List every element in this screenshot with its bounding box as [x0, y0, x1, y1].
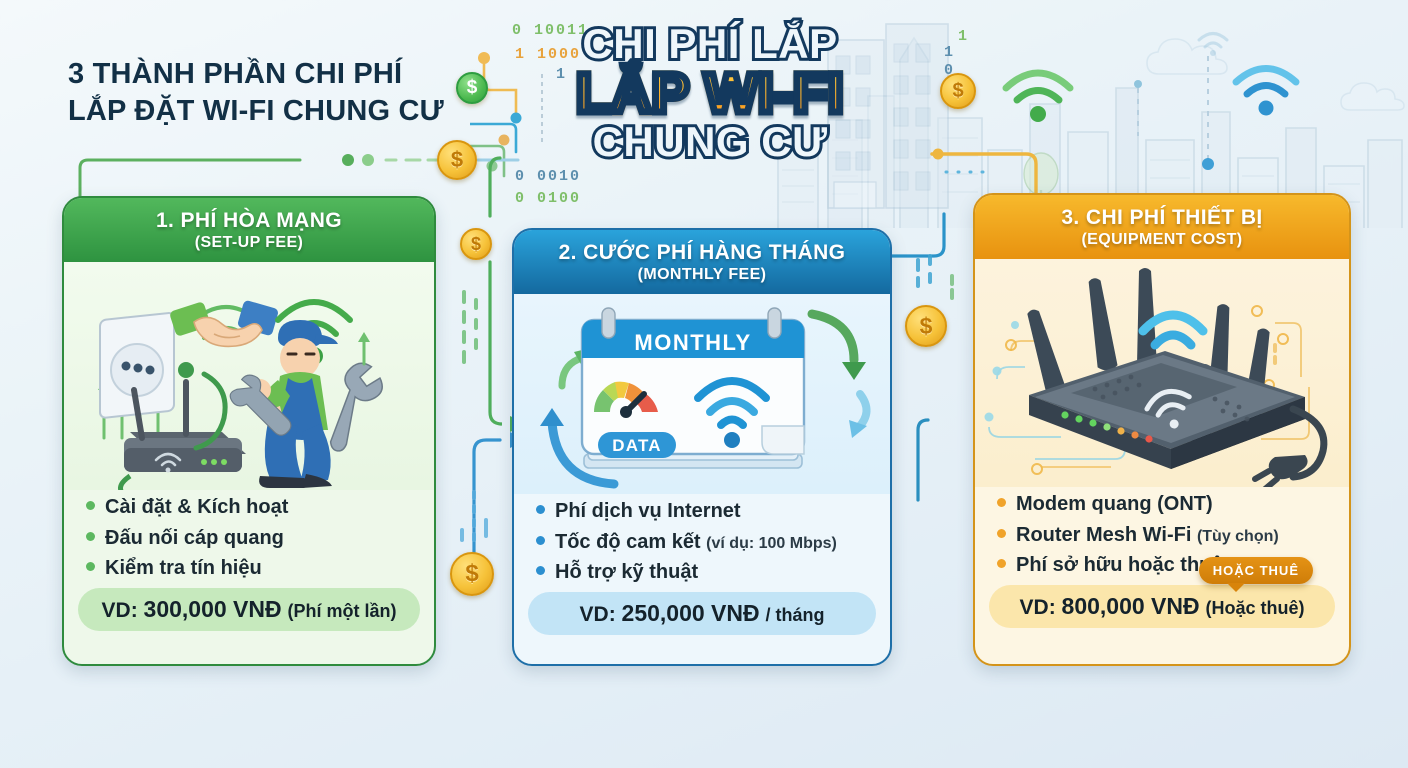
svg-text:DATA: DATA — [612, 436, 662, 455]
monthly-calendar-data-illustration: MONTHLY — [514, 294, 890, 494]
headline-line-2: LẮP ĐẶT WI-FI CHUNG CƯ — [68, 93, 488, 130]
card3-title: 3. CHI PHÍ THIẾT BỊ — [985, 206, 1339, 230]
bullet-dot — [86, 562, 95, 571]
cost-card-equipment-cost[interactable]: 3. CHI PHÍ THIẾT BỊ (EQUIPMENT COST) — [973, 193, 1351, 666]
bullet-dot — [536, 536, 545, 545]
card1-price-pill: VD: 300,000 VNĐ (Phí một lần) — [78, 588, 420, 631]
card1-subtitle: (SET-UP FEE) — [74, 234, 424, 252]
bullet-dot — [86, 501, 95, 510]
handshake-technician-router-illustration — [64, 262, 434, 490]
status-badge: HOẶC THUÊ — [1199, 557, 1313, 584]
card2-price-pill: VD: 250,000 VNĐ / tháng — [528, 592, 876, 635]
bullet-dot — [997, 559, 1006, 568]
cloud-icon — [1145, 38, 1265, 82]
main-title-line-1: CHI PHÍ LẮP — [545, 24, 875, 64]
coin-gold-icon: $ — [905, 305, 947, 347]
binary-text: 0 0010 — [515, 168, 581, 185]
infographic-canvas: 0 10011 .. 1 1000 .. 1 0 0010 0 0100 1 1… — [0, 0, 1408, 768]
bullet-dot — [536, 566, 545, 575]
card1-bullet-list: Cài đặt & Kích hoạt Đấu nối cáp quang Ki… — [64, 490, 434, 581]
cost-card-monthly-fee[interactable]: 2. CƯỚC PHÍ HÀNG THÁNG (MONTHLY FEE) — [512, 228, 892, 666]
bullet-dot — [997, 498, 1006, 507]
card2-subtitle: (MONTHLY FEE) — [524, 266, 880, 284]
list-item: Đấu nối cáp quang — [86, 527, 414, 551]
svg-text:MONTHLY: MONTHLY — [634, 330, 751, 355]
binary-text: 1 — [958, 28, 969, 45]
coin-gold-icon: $ — [450, 552, 494, 596]
list-item: Router Mesh Wi-Fi (Tùy chọn) — [997, 524, 1329, 548]
card2-body: MONTHLY — [514, 294, 890, 635]
list-item: Kiểm tra tín hiệu — [86, 557, 414, 581]
main-title-line-2: LẮP WI-FI — [545, 66, 875, 120]
card1-header: 1. PHÍ HÒA MẠNG (SET-UP FEE) — [64, 198, 434, 262]
coin-gold-icon: $ — [460, 228, 492, 260]
bullet-dot — [536, 505, 545, 514]
card2-header: 2. CƯỚC PHÍ HÀNG THÁNG (MONTHLY FEE) — [514, 230, 890, 294]
coin-gold-icon: $ — [940, 73, 976, 109]
card3-subtitle: (EQUIPMENT COST) — [985, 231, 1339, 249]
list-item: Hỗ trợ kỹ thuật — [536, 561, 870, 585]
binary-text: 0 0100 — [515, 190, 581, 207]
wifi-blue-icon — [1230, 58, 1302, 116]
binary-text: 1 — [944, 44, 955, 61]
coin-gold-icon: $ — [437, 140, 477, 180]
card2-bullet-list: Phí dịch vụ Internet Tốc độ cam kết (ví … — [514, 494, 890, 585]
card3-body: Modem quang (ONT) Router Mesh Wi-Fi (Tùy… — [975, 259, 1349, 628]
card1-body: Cài đặt & Kích hoạt Đấu nối cáp quang Ki… — [64, 262, 434, 631]
card3-header: 3. CHI PHÍ THIẾT BỊ (EQUIPMENT COST) — [975, 195, 1349, 259]
card1-title: 1. PHÍ HÒA MẠNG — [74, 209, 424, 233]
card3-price-pill: HOẶC THUÊ VD: 800,000 VNĐ (Hoặc thuê) — [989, 585, 1335, 628]
cost-card-setup-fee[interactable]: 1. PHÍ HÒA MẠNG (SET-UP FEE) — [62, 196, 436, 666]
bullet-dot — [997, 529, 1006, 538]
bullet-dot — [86, 532, 95, 541]
dashed-link-icon — [1130, 40, 1260, 210]
main-title-line-3: CHUNG CƯ — [545, 122, 875, 162]
wifi-small-icon — [1195, 28, 1231, 56]
cloud-icon — [1340, 82, 1408, 116]
page-title: 3 THÀNH PHẦN CHI PHÍ LẮP ĐẶT WI-FI CHUNG… — [68, 56, 488, 130]
list-item: Phí dịch vụ Internet — [536, 500, 870, 524]
mesh-router-antennas-illustration — [975, 259, 1349, 487]
headline-line-1: 3 THÀNH PHẦN CHI PHÍ — [68, 56, 488, 93]
main-title: CHI PHÍ LẮP LẮP WI-FI CHUNG CƯ — [545, 24, 875, 162]
list-item: Tốc độ cam kết (ví dụ: 100 Mbps) — [536, 531, 870, 555]
wifi-green-icon — [998, 62, 1078, 124]
list-item: Modem quang (ONT) — [997, 493, 1329, 517]
card2-title: 2. CƯỚC PHÍ HÀNG THÁNG — [524, 241, 880, 265]
list-item: Cài đặt & Kích hoạt — [86, 496, 414, 520]
